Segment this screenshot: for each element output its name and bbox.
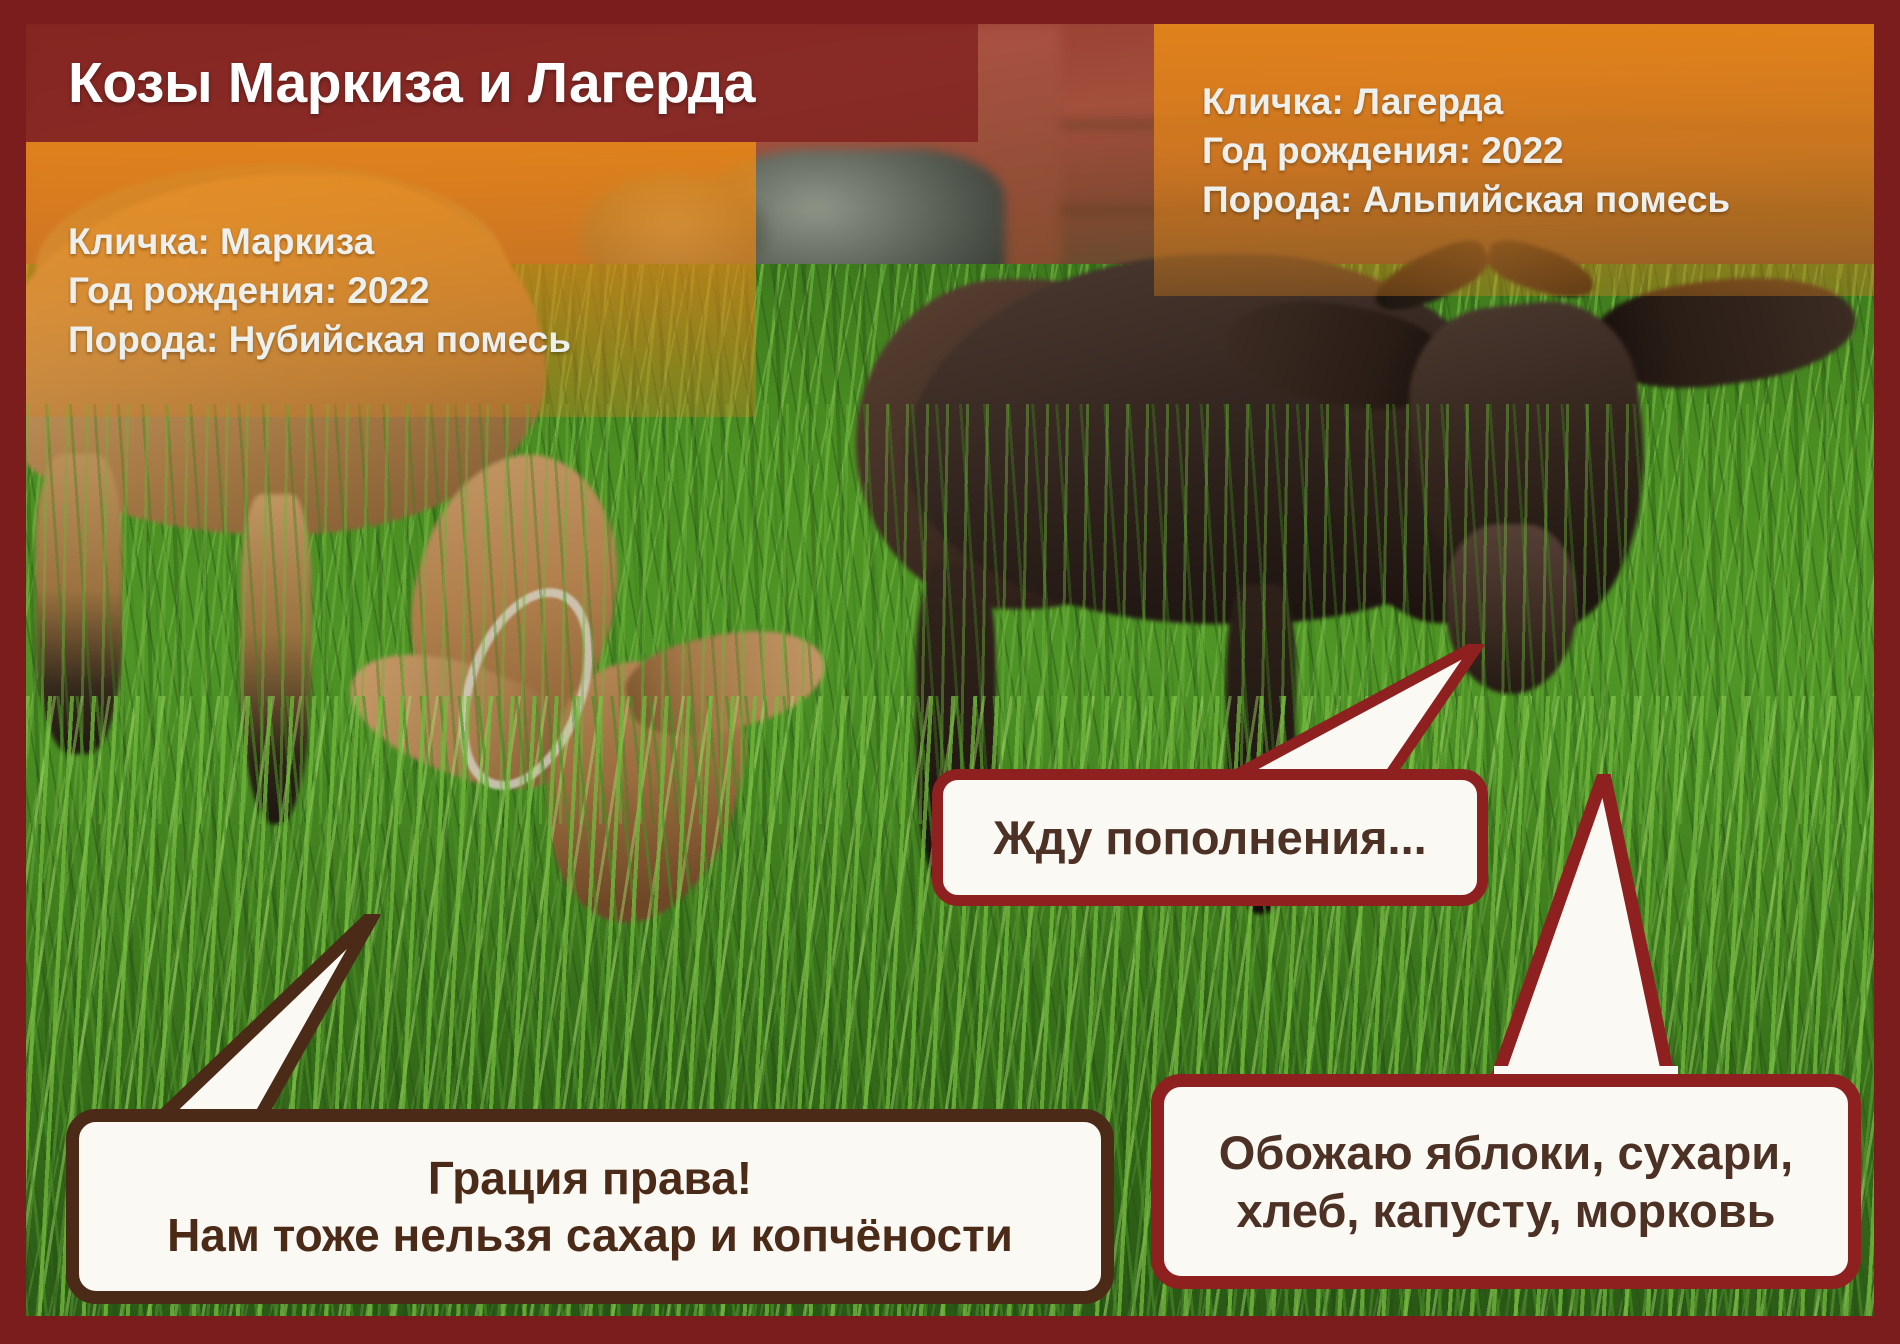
speech-bubble-food-line1: Обожаю яблоки, сухари, [1219, 1124, 1793, 1181]
info-card-markiza: Кличка: Маркиза Год рождения: 2022 Пород… [26, 142, 756, 417]
pasture-photo: Козы Маркиза и Лагерда Кличка: Маркиза Г… [26, 24, 1874, 1316]
info-breed-lagerda: Порода: Альпийская помесь [1202, 176, 1874, 225]
info-birth-markiza: Год рождения: 2022 [68, 267, 756, 316]
speech-bubble-sugar: Грация права! Нам тоже нельзя сахар и ко… [66, 1109, 1114, 1304]
speech-bubble-sugar-line2: Нам тоже нельзя сахар и копчёности [167, 1207, 1013, 1263]
speech-bubble-food: Обожаю яблоки, сухари, хлеб, капусту, мо… [1151, 1074, 1861, 1289]
speech-bubble-food-text: Обожаю яблоки, сухари, хлеб, капусту, мо… [1219, 1124, 1793, 1239]
speech-bubble-waiting: Жду пополнения... [932, 769, 1488, 906]
info-birth-lagerda: Год рождения: 2022 [1202, 127, 1874, 176]
info-card-lagerda: Кличка: Лагерда Год рождения: 2022 Пород… [1154, 24, 1874, 296]
info-breed-markiza: Порода: Нубийская помесь [68, 316, 756, 365]
goat-poster: Козы Маркиза и Лагерда Кличка: Маркиза Г… [0, 0, 1900, 1344]
speech-bubble-sugar-text: Грация права! Нам тоже нельзя сахар и ко… [167, 1150, 1013, 1262]
info-name-markiza: Кличка: Маркиза [68, 218, 756, 267]
info-name-lagerda: Кличка: Лагерда [1202, 78, 1874, 127]
page-title: Козы Маркиза и Лагерда [26, 50, 755, 116]
speech-tail-food [1486, 774, 1686, 1104]
title-band: Козы Маркиза и Лагерда [26, 24, 978, 142]
speech-bubble-food-line2: хлеб, капусту, морковь [1219, 1182, 1793, 1239]
speech-bubble-sugar-line1: Грация права! [167, 1150, 1013, 1206]
speech-bubble-waiting-text: Жду пополнения... [993, 809, 1426, 866]
